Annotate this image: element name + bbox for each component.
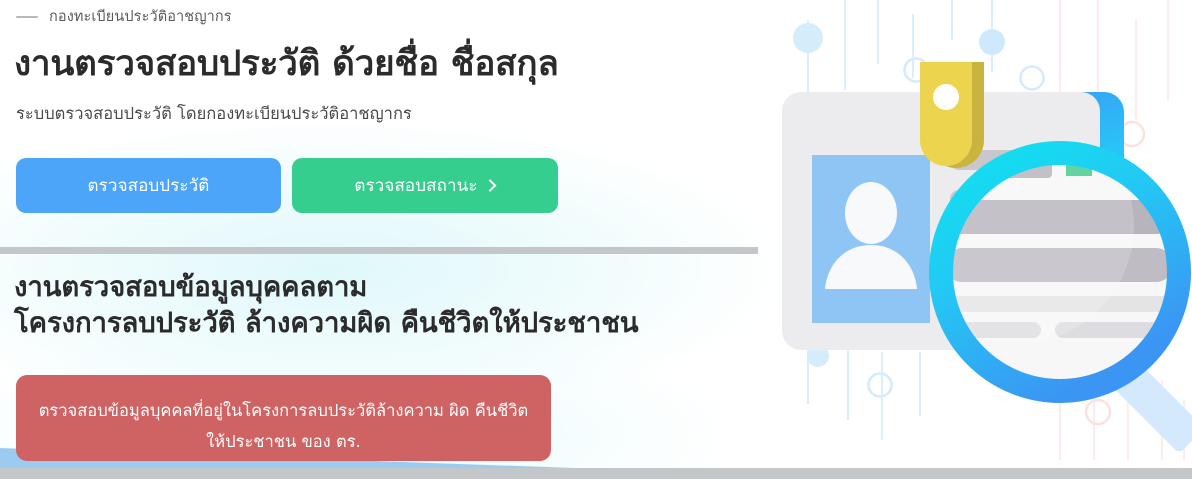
- check-history-label: ตรวจสอบประวัติ: [88, 172, 210, 199]
- check-status-label: ตรวจสอบสถานะ: [354, 172, 477, 199]
- id-card-magnifier-illustration: [760, 0, 1192, 470]
- section-title: งานตรวจสอบข้อมูลบุคคลตาม โครงการลบประวัต…: [14, 270, 638, 342]
- breadcrumb-label: กองทะเบียนประวัติอาชญากร: [49, 10, 232, 25]
- page-subtitle: ระบบตรวจสอบประวัติ โดยกองทะเบียนประวัติอ…: [16, 102, 412, 126]
- section-divider: [0, 247, 758, 254]
- check-history-button[interactable]: ตรวจสอบประวัติ: [16, 158, 281, 213]
- project-lookup-label-line1: ตรวจสอบข้อมูลบุคคลที่อยู่ในโครงการลบประว…: [39, 401, 444, 420]
- check-status-button[interactable]: ตรวจสอบสถานะ: [292, 158, 558, 213]
- page-root: กองทะเบียนประวัติอาชญากร งานตรวจสอบประวั…: [0, 0, 1192, 479]
- breadcrumb: กองทะเบียนประวัติอาชญากร: [16, 10, 232, 25]
- chevron-right-icon: [483, 179, 496, 192]
- section-title-line1: งานตรวจสอบข้อมูลบุคคลตาม: [14, 271, 367, 303]
- project-lookup-button[interactable]: ตรวจสอบข้อมูลบุคคลที่อยู่ในโครงการลบประว…: [16, 375, 551, 461]
- badge-clip-icon: [920, 62, 984, 168]
- page-title: งานตรวจสอบประวัติ ด้วยชื่อ ชื่อสกุล: [14, 43, 559, 86]
- dash-icon: [16, 16, 38, 18]
- action-buttons: ตรวจสอบประวัติ ตรวจสอบสถานะ: [16, 158, 558, 213]
- hero-content: กองทะเบียนประวัติอาชญากร งานตรวจสอบประวั…: [0, 0, 770, 479]
- section-title-line2: โครงการลบประวัติ ล้างความผิด คืนชีวิตให้…: [14, 307, 638, 339]
- footer-bar: [0, 468, 1192, 479]
